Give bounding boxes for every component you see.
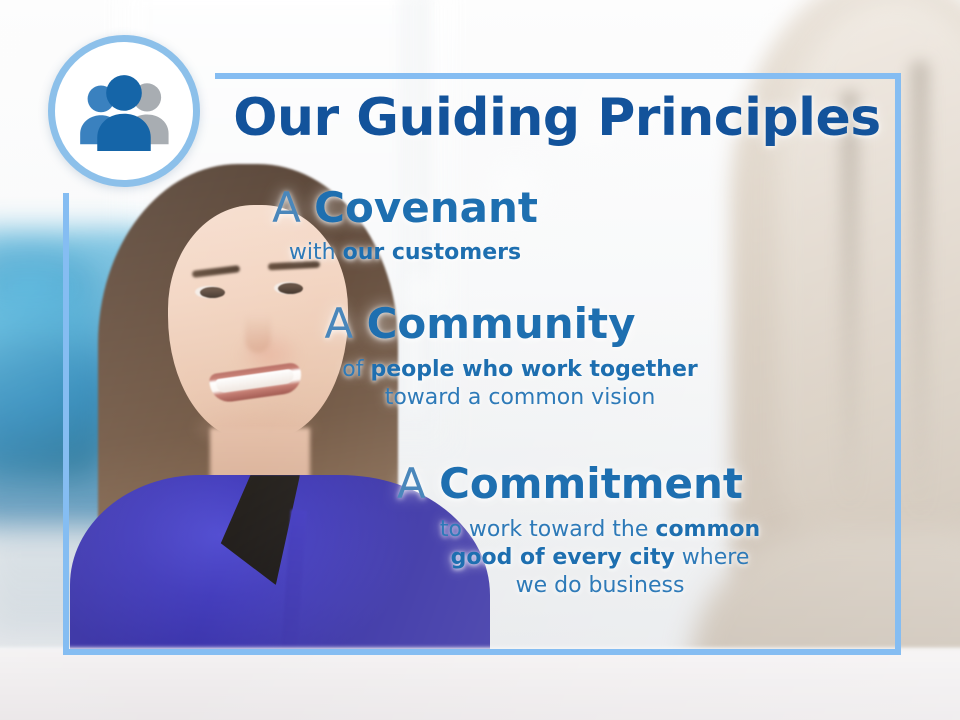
- emphasis-text: people who work together: [370, 357, 697, 382]
- plain-text: with: [289, 240, 343, 265]
- principle-covenant: A Covenant with our customers: [0, 186, 960, 267]
- promotional-graphic: FLOW FLOW: [0, 0, 960, 720]
- principle-subtext-line: good of every city where: [260, 544, 940, 572]
- emphasis-text: our customers: [343, 240, 522, 265]
- plain-text: of: [342, 357, 370, 382]
- principle-subtext: of people who work togethertoward a comm…: [0, 356, 960, 412]
- principle-title: A Community: [0, 302, 960, 347]
- principle-article: A: [272, 183, 314, 232]
- principle-subtext: to work toward the commongood of every c…: [0, 516, 960, 600]
- text-content: Our Guiding Principles A Covenant with o…: [0, 0, 960, 720]
- principle-subtext-line: to work toward the common: [260, 516, 940, 544]
- emphasis-text: good of every city: [451, 545, 675, 570]
- principle-subtext-line: with our customers: [0, 239, 810, 267]
- principle-subtext-line: of people who work together: [110, 356, 930, 384]
- emphasis-text: common: [655, 517, 760, 542]
- plain-text: toward a common vision: [385, 385, 656, 410]
- principle-keyword: Commitment: [439, 459, 743, 508]
- plain-text: we do business: [516, 573, 685, 598]
- principle-keyword: Covenant: [314, 183, 538, 232]
- page-title: Our Guiding Principles: [214, 92, 900, 144]
- principle-article: A: [397, 459, 439, 508]
- principle-commitment: A Commitment to work toward the commongo…: [0, 462, 960, 600]
- principle-title: A Commitment: [0, 462, 960, 507]
- principle-article: A: [325, 299, 367, 348]
- principle-subtext-line: we do business: [260, 572, 940, 600]
- principle-title: A Covenant: [0, 186, 960, 231]
- plain-text: where: [675, 545, 750, 570]
- principle-community: A Community of people who work togethert…: [0, 302, 960, 412]
- principle-subtext: with our customers: [0, 239, 960, 267]
- principle-subtext-line: toward a common vision: [110, 384, 930, 412]
- plain-text: to work toward the: [440, 517, 656, 542]
- principle-keyword: Community: [367, 299, 636, 348]
